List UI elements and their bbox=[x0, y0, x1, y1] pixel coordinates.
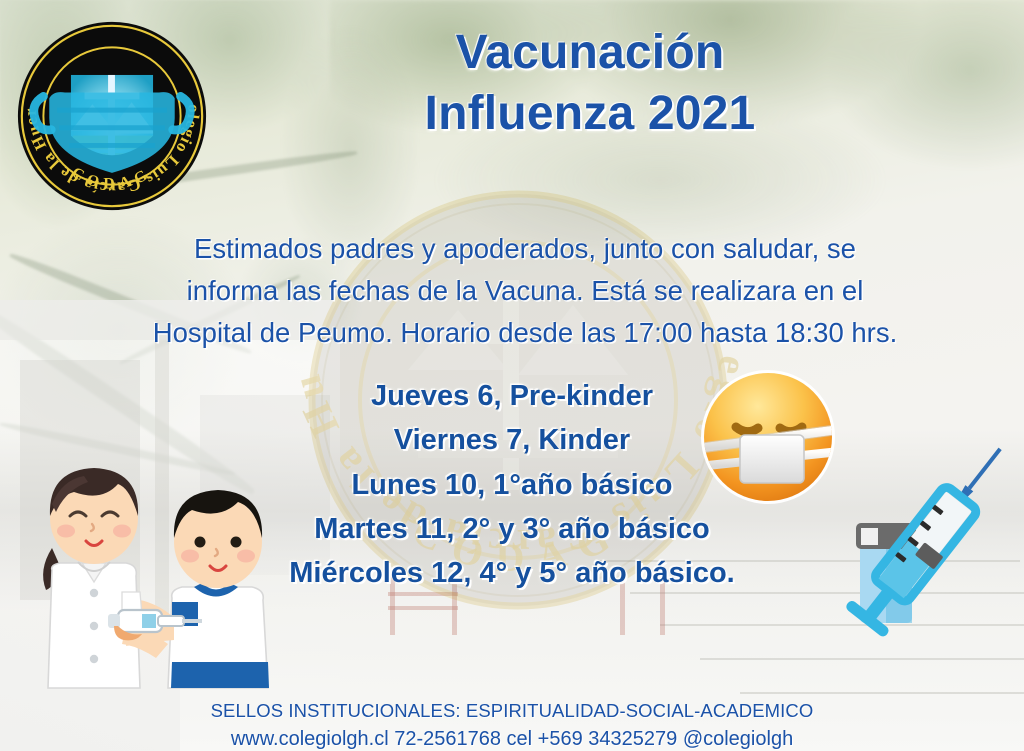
syringe-and-vial-icon bbox=[820, 415, 1024, 665]
title-line-2: Influenza 2021 bbox=[240, 83, 940, 144]
nurse-figure bbox=[43, 468, 174, 688]
poster-canvas: Colegio Luis García de la Huerta CODAG bbox=[0, 0, 1024, 751]
body-line-3: Hospital de Peumo. Horario desde las 17:… bbox=[95, 312, 955, 354]
title-line-1: Vacunación bbox=[456, 26, 725, 79]
body-line-1: Estimados padres y apoderados, junto con… bbox=[95, 228, 955, 270]
child-figure bbox=[126, 490, 269, 688]
nurse-vaccinating-child-illustration bbox=[22, 430, 322, 690]
poster-title: Vacunación Influenza 2021 bbox=[240, 22, 940, 145]
footer-line-2: www.colegiolgh.cl 72-2561768 cel +569 34… bbox=[0, 725, 1024, 751]
footer-line-1: SELLOS INSTITUCIONALES: ESPIRITUALIDAD-S… bbox=[0, 698, 1024, 725]
face-with-medical-mask-icon bbox=[697, 366, 839, 508]
body-line-2: informa las fechas de la Vacuna. Está se… bbox=[95, 270, 955, 312]
poster-body-text: Estimados padres y apoderados, junto con… bbox=[95, 228, 955, 353]
poster-footer: SELLOS INSTITUCIONALES: ESPIRITUALIDAD-S… bbox=[0, 698, 1024, 751]
school-logo: Colegio Luis García de la Huerta CODAG bbox=[14, 18, 210, 214]
